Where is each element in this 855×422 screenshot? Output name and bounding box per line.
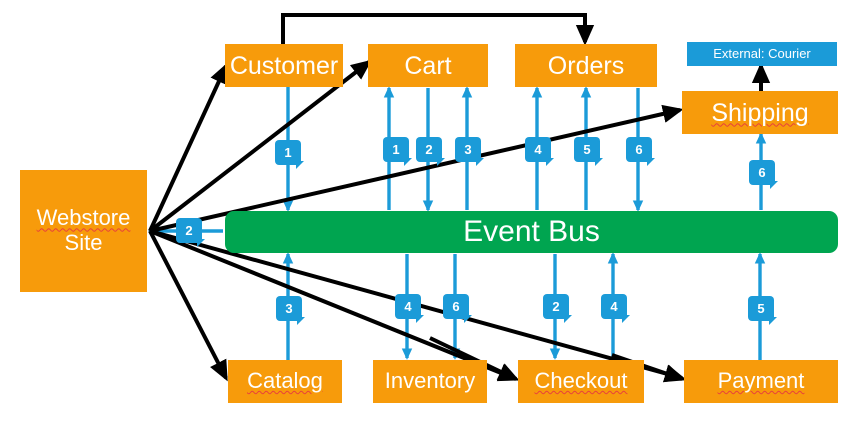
- node-cart-label: Cart: [404, 52, 451, 80]
- node-payment-label: Payment: [718, 369, 805, 394]
- event-badge-cart-2: 2: [416, 137, 442, 162]
- diagram-canvas: Webstore Site Customer Cart Orders Exter…: [0, 0, 855, 422]
- node-webstore-label-line1: Webstore: [37, 206, 131, 231]
- event-badge-customer-1: 1: [275, 140, 301, 165]
- node-inventory[interactable]: Inventory: [373, 360, 487, 403]
- event-badge-catalog-3: 3: [276, 296, 302, 321]
- call-arrow-webstore-customer: [150, 66, 226, 231]
- event-badge-label: 1: [284, 145, 291, 160]
- event-badge-checkout-2: 2: [543, 294, 569, 319]
- event-badge-label: 2: [425, 142, 432, 157]
- event-badge-inventory-4: 4: [395, 294, 421, 319]
- node-inventory-label: Inventory: [385, 369, 476, 394]
- event-badge-payment-5: 5: [748, 296, 774, 321]
- node-external-courier[interactable]: External: Courier: [687, 42, 837, 66]
- event-badge-label: 2: [185, 223, 192, 238]
- node-payment[interactable]: Payment: [684, 360, 838, 403]
- node-event-bus-label: Event Bus: [463, 215, 600, 249]
- event-badge-label: 6: [452, 299, 459, 314]
- node-shipping[interactable]: Shipping: [682, 91, 838, 134]
- event-badge-label: 1: [392, 142, 399, 157]
- node-webstore-site[interactable]: Webstore Site: [20, 170, 147, 292]
- event-badge-cart-1: 1: [383, 137, 409, 162]
- event-badge-shipping-6: 6: [749, 160, 775, 185]
- event-badge-orders-5: 5: [574, 137, 600, 162]
- event-badge-label: 2: [552, 299, 559, 314]
- call-arrow-customer-orders: [283, 15, 585, 44]
- event-badge-label: 3: [464, 142, 471, 157]
- event-badge-label: 5: [757, 301, 764, 316]
- node-orders[interactable]: Orders: [515, 44, 657, 87]
- node-cart[interactable]: Cart: [368, 44, 488, 87]
- event-badge-label: 4: [534, 142, 541, 157]
- node-customer-label: Customer: [230, 52, 338, 80]
- node-checkout-label: Checkout: [535, 369, 628, 394]
- event-badge-label: 3: [285, 301, 292, 316]
- event-badge-label: 6: [635, 142, 642, 157]
- event-badge-label: 4: [610, 299, 617, 314]
- node-external-courier-label: External: Courier: [713, 47, 811, 62]
- event-badge-webstore-2: 2: [176, 218, 202, 243]
- node-orders-label: Orders: [548, 52, 624, 80]
- call-arrow-webstore-cart: [150, 62, 369, 231]
- event-badge-label: 4: [404, 299, 411, 314]
- event-badge-label: 5: [583, 142, 590, 157]
- event-badge-orders-4: 4: [525, 137, 551, 162]
- event-badge-orders-6: 6: [626, 137, 652, 162]
- node-catalog[interactable]: Catalog: [228, 360, 342, 403]
- node-customer[interactable]: Customer: [225, 44, 343, 87]
- call-arrow-webstore-catalog: [150, 231, 226, 378]
- event-badge-label: 6: [758, 165, 765, 180]
- node-event-bus[interactable]: Event Bus: [225, 211, 838, 253]
- node-shipping-label: Shipping: [711, 99, 808, 127]
- event-badge-cart-3: 3: [455, 137, 481, 162]
- event-badge-checkout-4: 4: [601, 294, 627, 319]
- node-catalog-label: Catalog: [247, 369, 323, 394]
- node-webstore-label-line2: Site: [65, 231, 103, 256]
- node-checkout[interactable]: Checkout: [518, 360, 644, 403]
- event-badge-inventory-6: 6: [443, 294, 469, 319]
